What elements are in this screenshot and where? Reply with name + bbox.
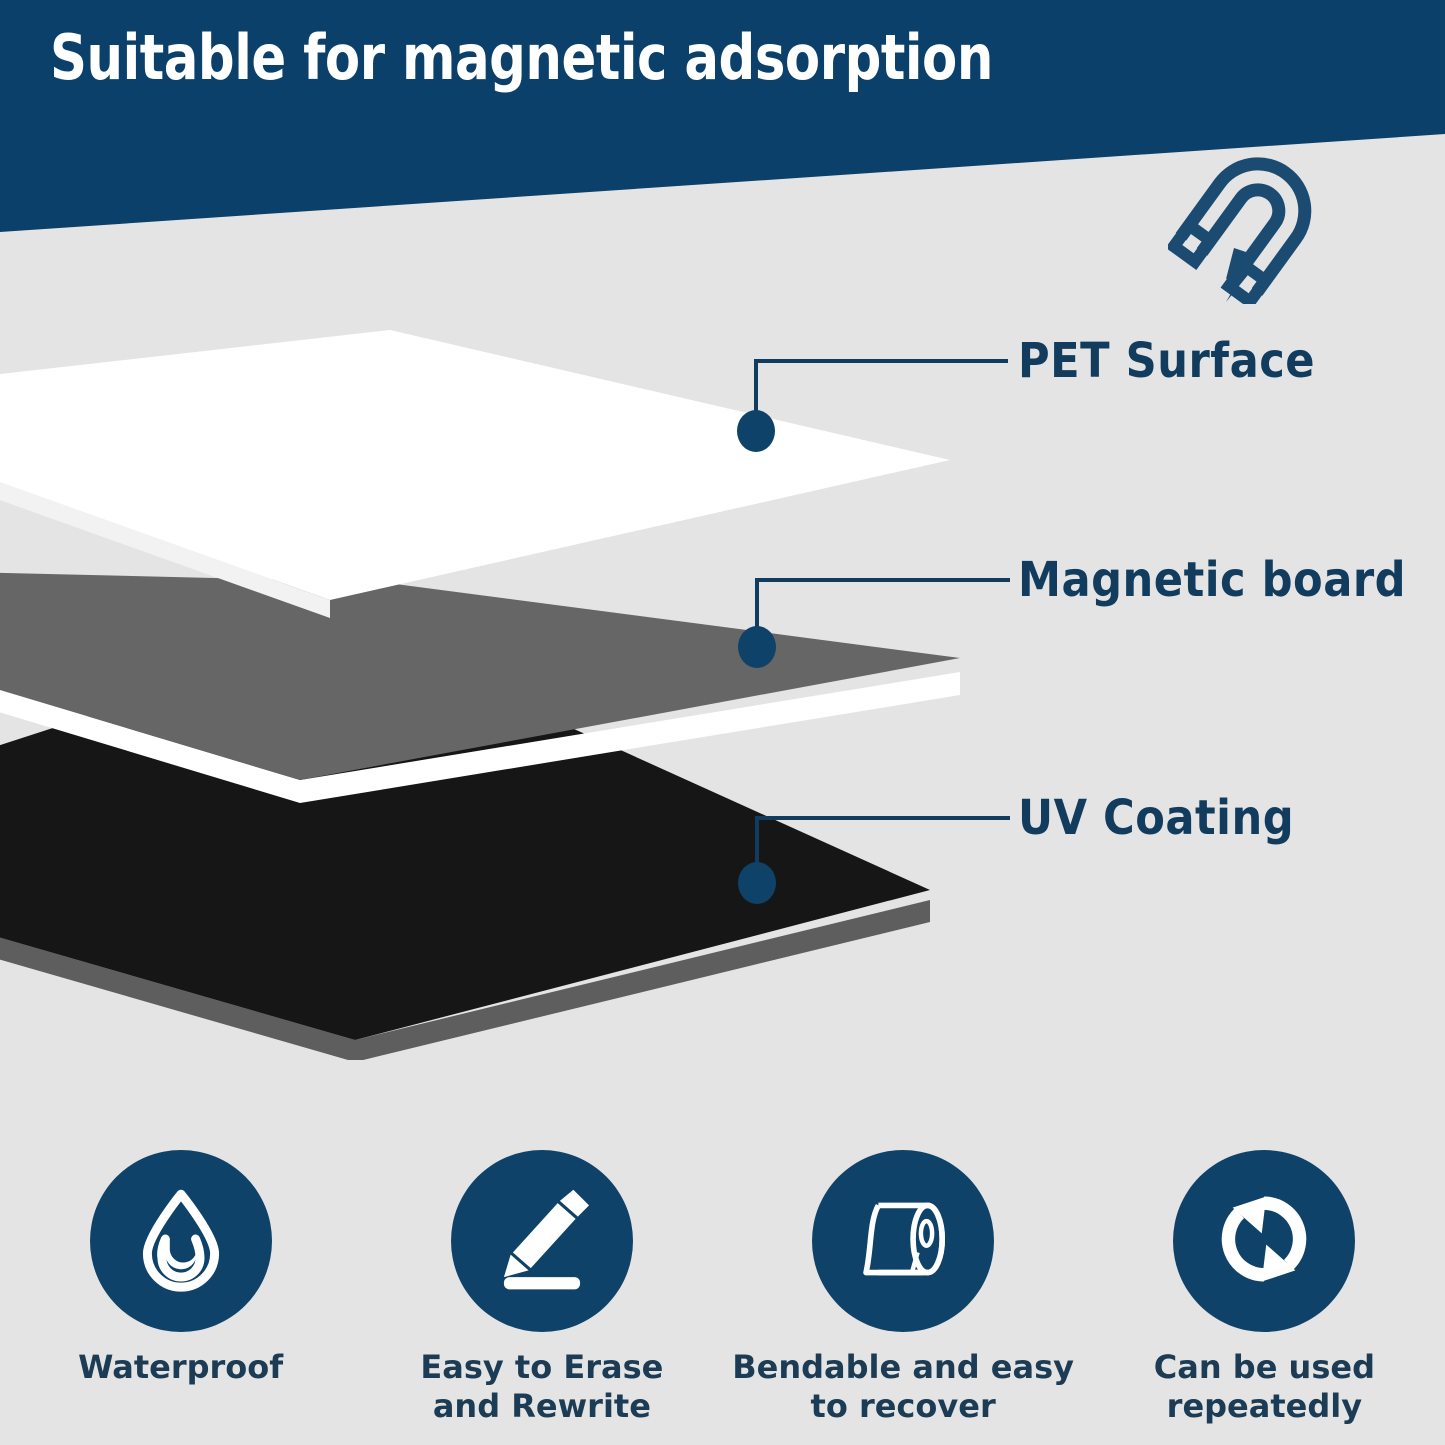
feature-badge-waterproof [90,1150,272,1332]
feature-label-easy-erase: Easy to Erase and Rewrite [420,1348,663,1426]
feature-reusable: Can be used repeatedly [1084,1150,1445,1445]
feature-badge-reusable [1173,1150,1355,1332]
refresh-arrows-icon [1208,1183,1320,1299]
feature-label-bendable: Bendable and easy to recover [732,1348,1074,1426]
feature-waterproof: Waterproof [0,1150,361,1445]
feature-label-reusable: Can be used repeatedly [1154,1348,1375,1426]
layer-pet-surface [0,330,950,618]
feature-row: Waterproof Easy to E [0,1150,1445,1445]
feature-easy-erase: Easy to Erase and Rewrite [361,1150,722,1445]
paper-roll-icon [847,1183,959,1299]
pencil-icon [486,1183,598,1299]
feature-badge-easy-erase [451,1150,633,1332]
magnet-icon [1168,142,1330,304]
feature-label-waterproof: Waterproof [78,1348,283,1387]
feature-badge-bendable [812,1150,994,1332]
callout-label-uv-coating: UV Coating [1018,790,1294,846]
callout-label-magnetic-board: Magnetic board [1018,552,1406,608]
product-infographic: Suitable for magnetic adsorption [0,0,1445,1445]
layer-diagram [0,300,1000,1060]
water-drop-icon [125,1183,237,1299]
feature-bendable: Bendable and easy to recover [723,1150,1084,1445]
callout-label-pet-surface: PET Surface [1018,333,1315,389]
page-title: Suitable for magnetic adsorption [50,27,993,89]
